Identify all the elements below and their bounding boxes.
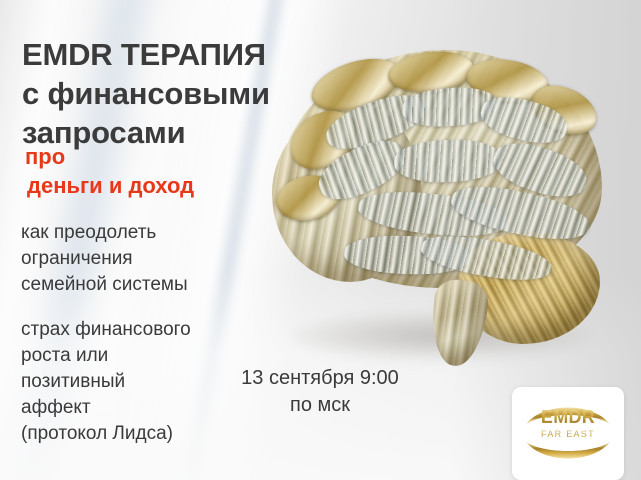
accent-subtitle: про деньги и доход <box>25 142 325 200</box>
body-line: аффект <box>21 395 191 421</box>
brand-logo-card[interactable]: EMDR FAR EAST <box>512 387 624 480</box>
headline-line-2: с финансовыми <box>22 74 332 113</box>
promo-poster: EMDR ТЕРАПИЯ с финансовыми запросами про… <box>0 0 641 480</box>
body-line: семейной системы <box>21 272 188 298</box>
accent-line-1: про <box>25 142 325 171</box>
body-line: (протокол Лидса) <box>21 421 191 447</box>
body-block-financial-fear: страх финансового роста или позитивный а… <box>21 317 191 447</box>
body-line: позитивный <box>21 369 191 395</box>
event-timezone-line: по мск <box>225 392 415 419</box>
event-date-line: 13 сентября 9:00 <box>225 365 415 392</box>
accent-line-2: деньги и доход <box>25 171 325 200</box>
headline-line-1: EMDR ТЕРАПИЯ <box>22 35 332 74</box>
body-line: как преодолеть <box>21 220 188 246</box>
body-line: страх финансового <box>21 317 191 343</box>
gold-eye-arc-icon <box>520 398 616 466</box>
body-block-family-system: как преодолеть ограничения семейной сист… <box>21 220 188 298</box>
event-datetime: 13 сентября 9:00 по мск <box>225 365 415 419</box>
body-line: роста или <box>21 343 191 369</box>
page-title: EMDR ТЕРАПИЯ с финансовыми запросами <box>22 35 332 152</box>
body-line: ограничения <box>21 246 188 272</box>
